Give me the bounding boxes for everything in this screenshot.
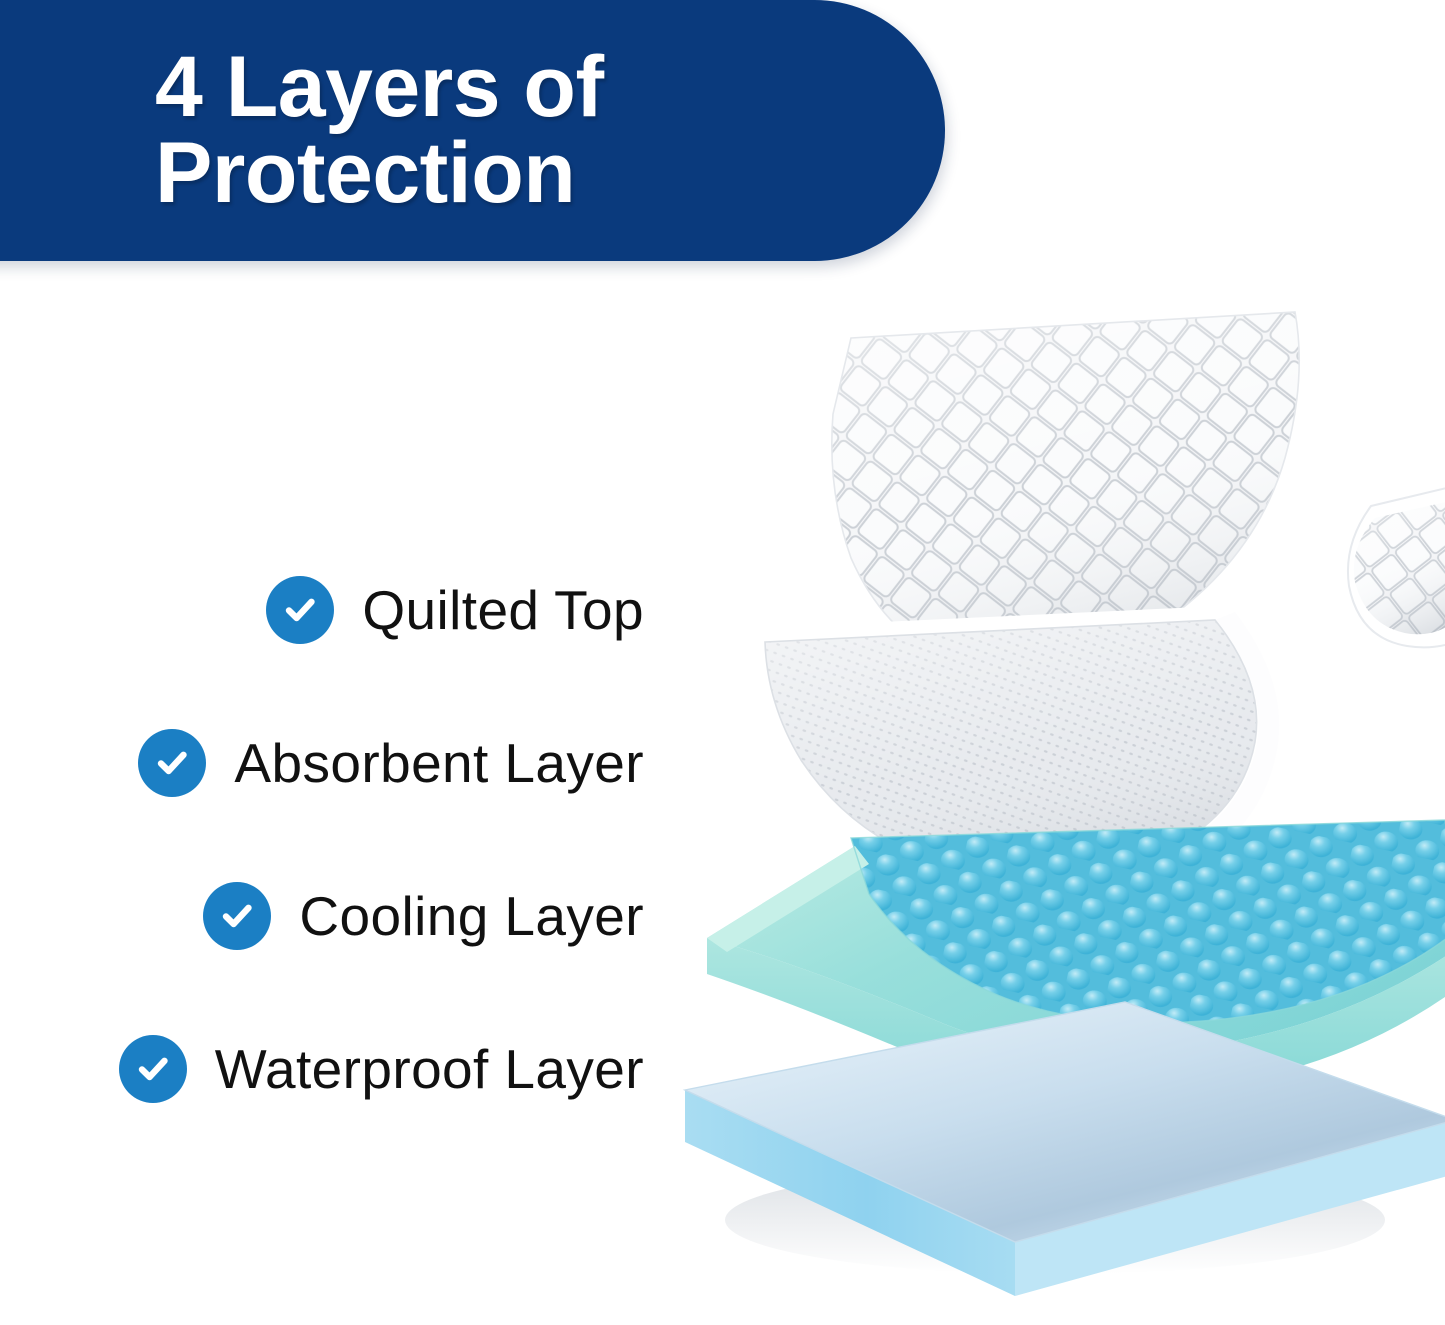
feature-label: Absorbent Layer bbox=[234, 736, 644, 791]
quilted-top-right-curl bbox=[1335, 480, 1445, 660]
check-circle-icon bbox=[119, 1035, 187, 1103]
check-circle-icon bbox=[138, 729, 206, 797]
feature-item-quilted-top: Quilted Top bbox=[0, 560, 660, 660]
exploded-mattress-pad-layers bbox=[655, 290, 1445, 1300]
check-circle-icon bbox=[266, 576, 334, 644]
check-circle-icon bbox=[203, 882, 271, 950]
feature-item-cooling-layer: Cooling Layer bbox=[0, 866, 660, 966]
feature-label: Waterproof Layer bbox=[215, 1042, 644, 1097]
infographic-canvas: 4 Layers of Protection Quilted Top Absor… bbox=[0, 0, 1445, 1325]
page-title-line-2: Protection bbox=[155, 131, 885, 216]
header-banner: 4 Layers of Protection bbox=[0, 0, 945, 261]
feature-label: Cooling Layer bbox=[299, 889, 644, 944]
page-title-line-1: 4 Layers of bbox=[155, 45, 885, 130]
feature-item-absorbent-layer: Absorbent Layer bbox=[0, 713, 660, 813]
feature-item-waterproof-layer: Waterproof Layer bbox=[0, 1019, 660, 1119]
feature-label: Quilted Top bbox=[362, 583, 644, 638]
feature-list: Quilted Top Absorbent Layer Cooling Laye… bbox=[0, 560, 660, 1119]
